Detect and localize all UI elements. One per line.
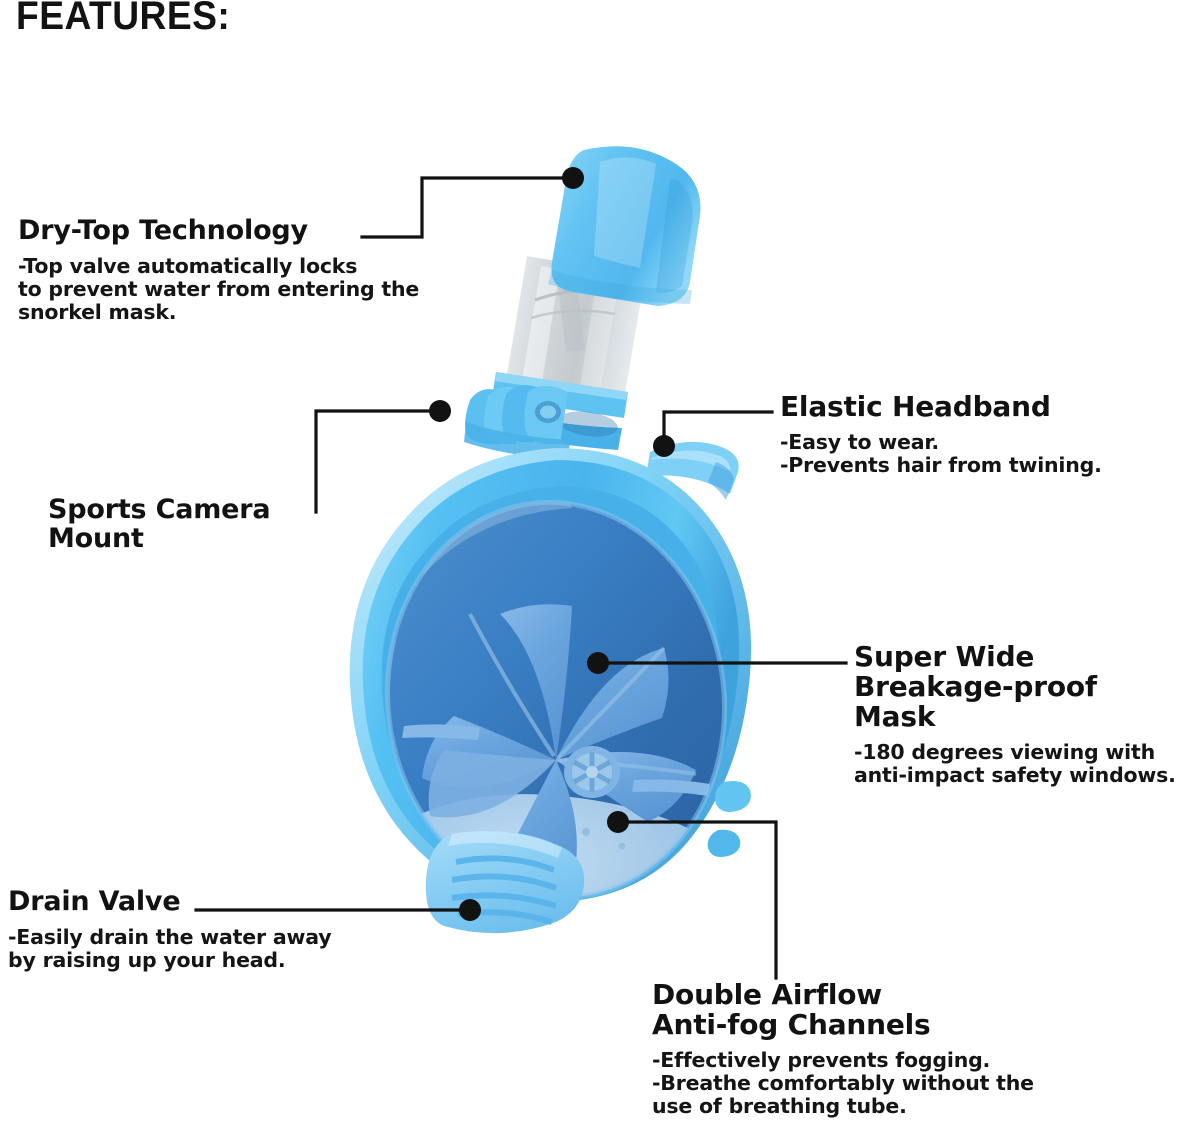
callout-heading: Sports Camera Mount: [48, 496, 348, 554]
callout-double-airflow: Double Airflow Anti-fog Channels -Effect…: [652, 980, 1092, 1118]
callout-body: -180 degrees viewing with anti-impact sa…: [854, 741, 1200, 787]
dry-top-valve-cap: [548, 146, 701, 306]
callout-drain-valve: Drain Valve -Easily drain the water away…: [8, 888, 408, 972]
drain-valve-part: [426, 831, 584, 933]
callout-heading: Drain Valve: [8, 888, 408, 917]
callout-body: -Effectively prevents fogging. -Breathe …: [652, 1049, 1092, 1118]
callout-heading: Double Airflow Anti-fog Channels: [652, 980, 1092, 1040]
callout-dry-top-technology: Dry-Top Technology -Top valve automatica…: [18, 217, 488, 324]
center-valve-rosette: [564, 746, 620, 798]
callout-super-wide-mask: Super Wide Breakage-proof Mask -180 degr…: [854, 642, 1200, 787]
page-title: FEATURES:: [16, 0, 230, 39]
callout-elastic-headband: Elastic Headband -Easy to wear. -Prevent…: [780, 392, 1200, 477]
callout-body: -Top valve automatically locks to preven…: [18, 255, 488, 324]
callout-body: -Easy to wear. -Prevents hair from twini…: [780, 431, 1200, 477]
features-diagram: FEATURES: Dry-Top Technology -Top valve …: [0, 0, 1200, 1130]
callout-heading: Dry-Top Technology: [18, 217, 488, 246]
callout-sports-camera-mount: Sports Camera Mount: [48, 496, 348, 554]
callout-heading: Elastic Headband: [780, 392, 1200, 422]
callout-body: -Easily drain the water away by raising …: [8, 926, 408, 972]
callout-heading: Super Wide Breakage-proof Mask: [854, 642, 1200, 732]
